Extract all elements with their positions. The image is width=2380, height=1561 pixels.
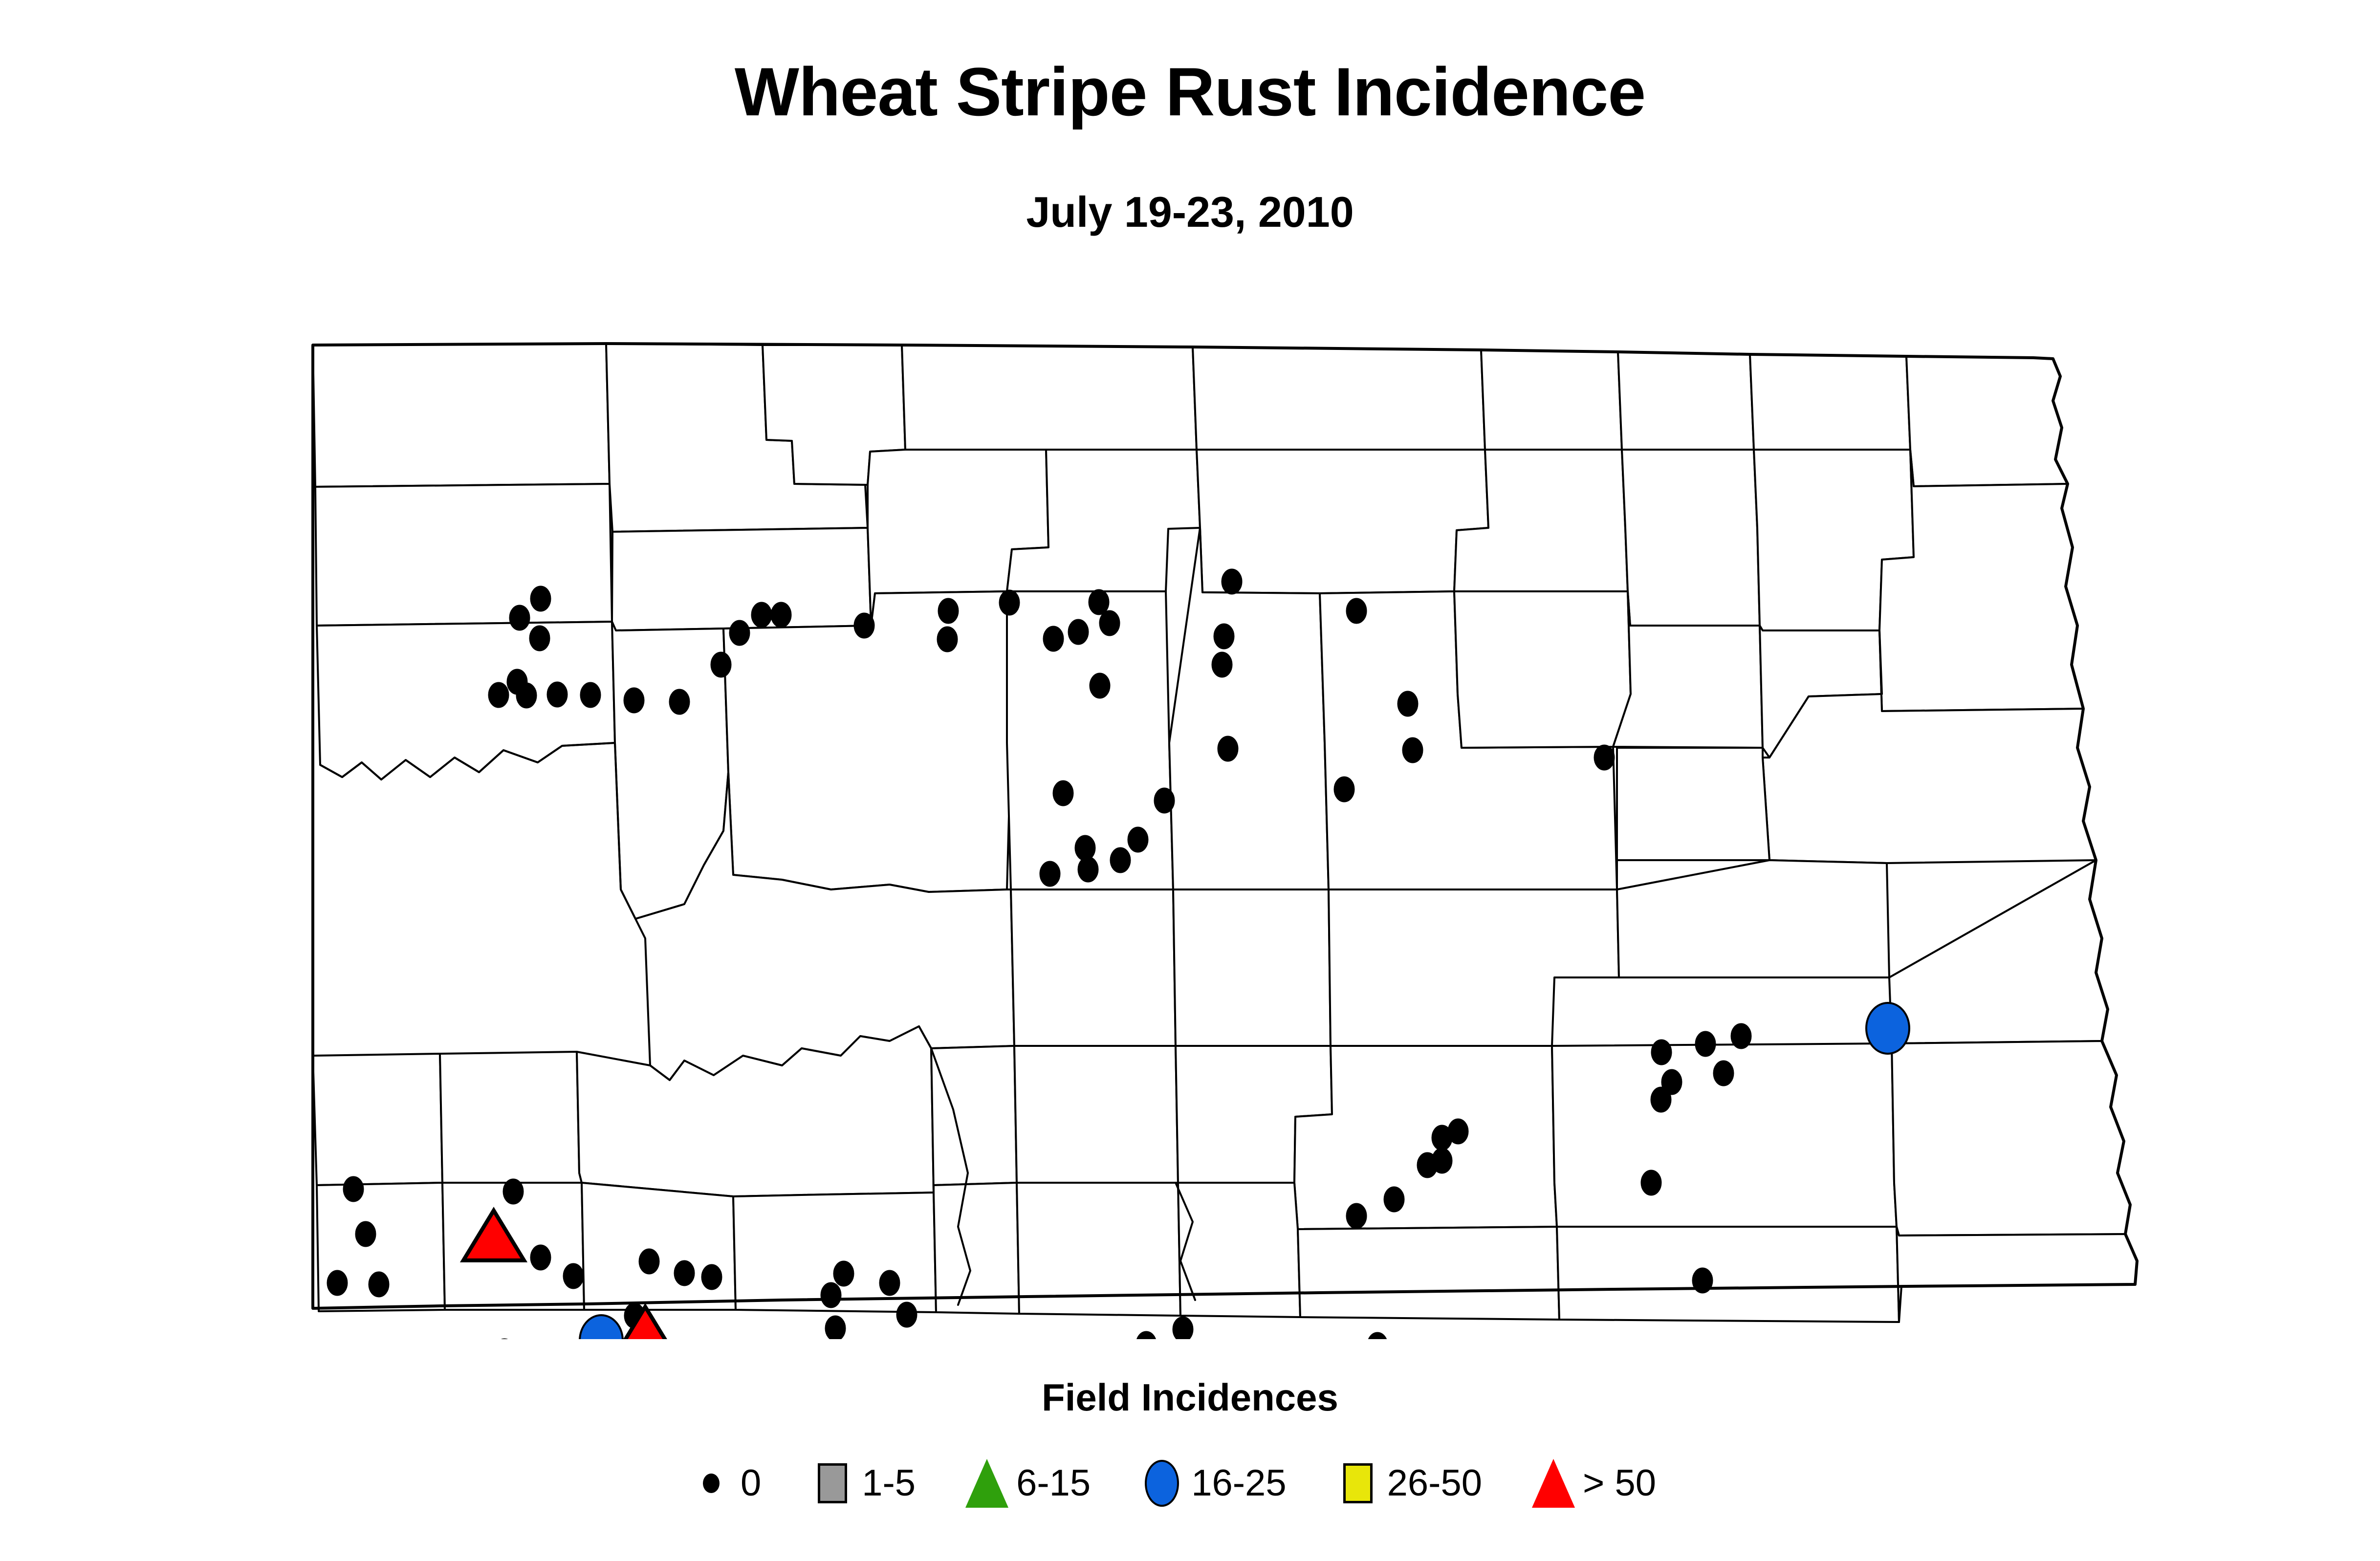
incidence-marker-circle [1866,1003,1909,1054]
county-polygon [582,1183,736,1310]
legend-square-icon [1329,1452,1387,1515]
legend-square-icon [803,1452,862,1515]
incidence-marker-zero [1222,569,1242,594]
county-polygon [1178,1183,1300,1317]
incidence-marker-zero [1053,781,1073,805]
county-polygon [317,622,615,780]
county-polygon [1197,450,1488,593]
county-polygon [1193,347,1485,450]
incidence-marker-zero [730,621,749,645]
legend-label: 0 [741,1465,803,1502]
legend-circle-icon [1133,1452,1191,1515]
legend-item-0: 0 [682,1452,803,1515]
incidence-marker-zero [1384,1187,1404,1212]
county-polygon [1892,1041,2130,1236]
county-polygon [1481,350,1622,450]
incidence-marker-zero [531,1245,550,1270]
incidence-marker-zero [1652,1040,1671,1064]
incidence-marker-zero [510,606,529,630]
incidence-marker-zero [1090,673,1110,698]
legend-item-16-25: 16-25 [1133,1452,1328,1515]
incidence-marker-zero [1334,777,1354,802]
county-polygon [1329,889,1619,1046]
incidence-marker-zero [675,1261,694,1285]
legend-title: Field Incidences [0,1378,2380,1416]
county-polygon [1617,860,1889,977]
county-polygon [1298,1227,1559,1320]
county-polygon [1622,450,1760,626]
county-polygon [313,344,610,487]
legend-label: > 50 [1583,1465,1698,1502]
incidence-marker-zero [1398,692,1418,716]
county-polygon [315,484,612,626]
incidence-marker-zero [1594,745,1614,770]
incidence-marker-zero [639,1249,659,1274]
incidence-marker-zero [1347,599,1366,623]
legend-triangle-icon [958,1452,1016,1515]
incidence-marker-zero [503,1179,523,1204]
incidence-marker-zero [1078,857,1098,882]
incidence-marker-zero [1641,1171,1661,1195]
incidence-marker-zero [547,682,567,707]
incidence-marker-zero [1155,788,1174,813]
county-polygon [1454,591,1631,748]
incidence-marker-zero [564,1264,583,1288]
map-container [0,254,2380,1339]
legend-item-6-15: 6-15 [958,1452,1133,1515]
county-polygon [1897,1227,2137,1322]
incidence-marker-zero [1651,1087,1671,1112]
incidence-marker-zero [834,1261,853,1286]
incidence-marker-zero [897,1302,917,1327]
incidence-marker-zero [939,599,958,623]
legend-item-50: > 50 [1524,1452,1698,1515]
incidence-marker-zero [624,688,644,713]
county-polygon [1557,1227,1899,1322]
incidence-marker-zero [1218,737,1238,761]
county-polygon [313,1054,442,1185]
legend-circle-glyph [1145,1460,1179,1507]
incidence-marker-zero [1403,738,1422,762]
legend-dot-glyph [703,1474,720,1493]
legend-square-glyph [1343,1463,1373,1503]
incidence-marker-zero [1347,1204,1366,1228]
county-boundaries-group [313,344,2137,1322]
incidence-marker-zero [1100,611,1119,635]
legend-label: 1-5 [862,1465,958,1502]
page-title: Wheat Stripe Rust Incidence [0,58,2380,126]
county-polygon [1294,1046,1557,1229]
incidence-marker-zero [1731,1024,1751,1048]
legend-dot-icon [682,1452,741,1515]
incidence-marker-zero [1368,1333,1387,1339]
incidence-marker-zero [1111,848,1130,872]
incidence-marker-zero [531,586,550,611]
legend-triangle-glyph [965,1459,1008,1508]
county-polygon [1906,356,2068,486]
incidence-marker-zero [821,1283,841,1307]
incidence-marker-zero [1432,1149,1452,1173]
incidence-marker-zero [1173,1317,1193,1339]
legend-item-1-5: 1-5 [803,1452,958,1515]
legend-triangle-glyph [1532,1459,1575,1508]
incidence-marker-zero [1040,862,1060,886]
county-polygon [440,1052,582,1183]
legend-triangle-icon [1524,1452,1583,1515]
legend-square-glyph [818,1463,847,1503]
legend-label: 6-15 [1016,1465,1133,1502]
incidence-marker-zero [1044,627,1063,651]
legend-label: 26-50 [1387,1465,1524,1502]
page-subtitle: July 19-23, 2010 [0,191,2380,234]
county-polygon [1014,1046,1178,1183]
incidence-marker-zero [938,627,957,651]
incidence-marker-zero [854,613,874,638]
county-polygon [1750,354,1910,450]
county-polygon [902,345,1197,450]
incidence-marker-zero [880,1271,899,1295]
incidence-marker-zero [489,683,508,707]
incidence-marker-zero [752,603,771,627]
incidence-marker-triangle [615,1307,676,1339]
county-polygon [1173,889,1331,1046]
incidence-marker-zero [1069,620,1088,644]
incidence-marker-zero [1136,1332,1156,1339]
incidence-marker-zero [1696,1032,1715,1056]
north-dakota-county-map [0,254,2380,1339]
incidence-marker-zero [1212,652,1232,677]
incidence-marker-zero [356,1222,375,1246]
county-polygon [931,1046,1017,1192]
chart-root: Wheat Stripe Rust Incidence July 19-23, … [0,0,2380,1561]
incidence-marker-zero [1714,1061,1733,1085]
incidence-marker-zero [581,683,600,707]
incidence-marker-zero [711,652,731,677]
county-polygon [612,528,871,630]
incidence-marker-zero [1448,1119,1468,1144]
incidence-marker-zero [1693,1268,1712,1293]
incidence-marker-zero [1000,590,1019,615]
incidence-marker-zero [1075,836,1095,860]
legend-label: 16-25 [1191,1465,1328,1502]
incidence-marker-zero [702,1265,721,1289]
incidence-marker-zero [517,683,536,708]
incidence-marker-zero [771,603,791,627]
county-polygon [1618,352,1754,450]
legend: Field Incidences 01-56-1516-2526-50> 50 [0,1378,2380,1544]
incidence-marker-zero [670,690,689,714]
incidence-marker-zero [530,626,549,650]
legend-item-26-50: 26-50 [1329,1452,1524,1515]
incidence-marker-zero [344,1177,363,1201]
incidence-marker-zero [1214,624,1234,649]
incidence-marker-zero [328,1271,347,1295]
county-polygon [1011,889,1176,1046]
legend-items: 01-56-1516-2526-50> 50 [0,1452,2380,1515]
county-polygon [934,1183,1019,1314]
county-polygon [1889,860,2108,1043]
incidence-marker-zero [1089,590,1109,614]
incidence-marker-zero [1128,827,1148,852]
incidence-marker-circle [580,1315,623,1339]
incidence-marker-zero [826,1316,845,1339]
incidence-marker-zero [369,1272,389,1297]
